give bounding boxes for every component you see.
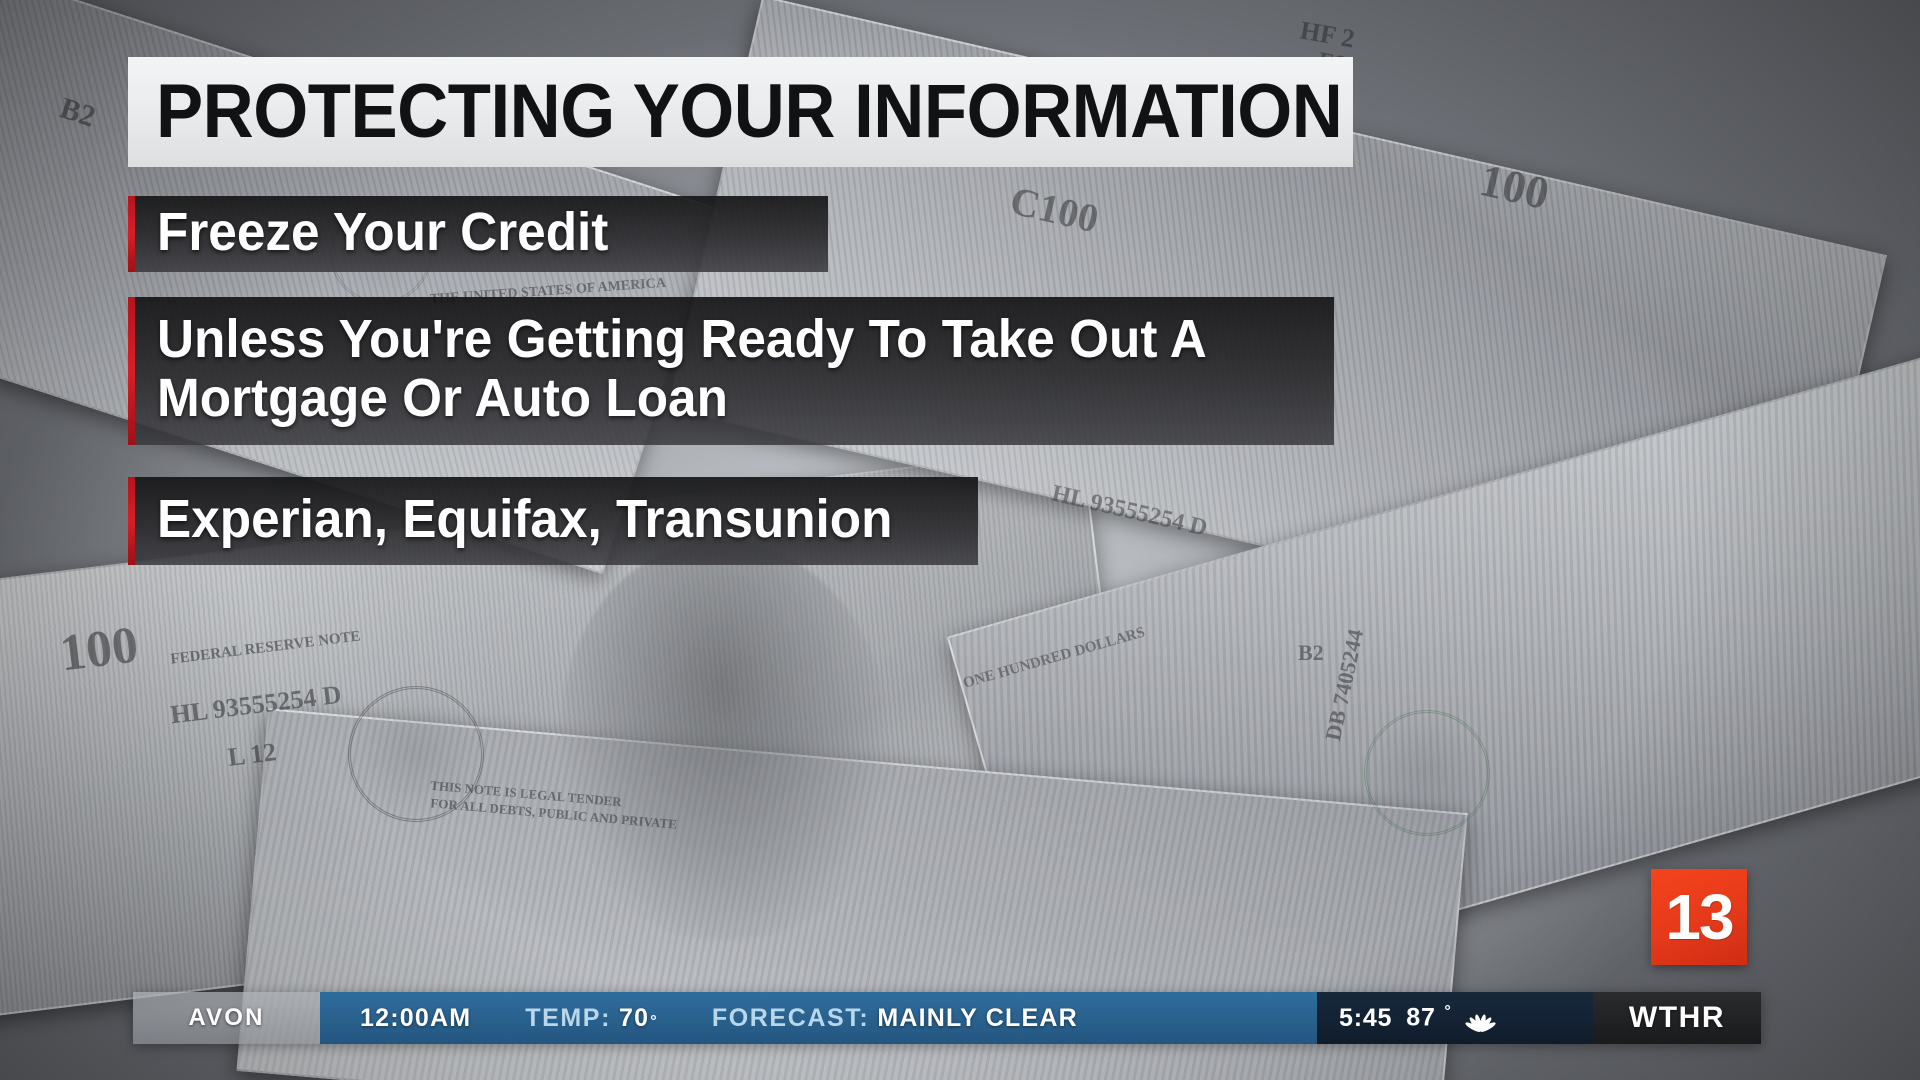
temp-value: 70	[619, 1004, 649, 1033]
ticker-time: 12:00AM	[360, 1004, 471, 1033]
accent-bar-icon	[128, 297, 135, 445]
broadcast-screen: HL 93555254 DL 12HL 93555254 DDB 7405244…	[0, 0, 1920, 1080]
bullet-panel: Freeze Your Credit	[135, 196, 828, 272]
location-label: AVON	[188, 1004, 264, 1032]
ticker-temp: TEMP: 70 °	[525, 1004, 658, 1033]
headline-bar: PROTECTING YOUR INFORMATION	[128, 57, 1353, 167]
bullet-line: Unless You're Getting Ready To Take Out …	[157, 310, 1250, 369]
ticker-callsign: WTHR	[1593, 992, 1761, 1044]
weather-ticker: AVON 12:00AM TEMP: 70 ° FORECAST: MAINLY…	[133, 992, 1761, 1044]
ticker-weather: 12:00AM TEMP: 70 ° FORECAST: MAINLY CLEA…	[320, 992, 1317, 1044]
bullet-line: Freeze Your Credit	[157, 203, 770, 262]
accent-bar-icon	[128, 196, 135, 272]
outside-temp-value: 87	[1406, 1004, 1435, 1032]
forecast-label: FORECAST:	[712, 1004, 869, 1033]
station-logo-13: 13	[1651, 869, 1747, 965]
page-title: PROTECTING YOUR INFORMATION	[156, 74, 1342, 150]
bullet-panel: Experian, Equifax, Transunion	[135, 477, 978, 565]
forecast-value: MAINLY CLEAR	[877, 1004, 1078, 1033]
bullet-line: Mortgage Or Auto Loan	[157, 369, 1250, 428]
ticker-location: AVON	[133, 992, 320, 1044]
bullet-panel: Unless You're Getting Ready To Take Out …	[135, 297, 1334, 445]
nbc-peacock-icon	[1466, 1005, 1494, 1031]
bullet-freeze-credit: Freeze Your Credit	[128, 196, 828, 272]
bullet-line: Experian, Equifax, Transunion	[157, 490, 912, 549]
bullet-unless-mortgage: Unless You're Getting Ready To Take Out …	[128, 297, 1334, 445]
ticker-forecast: FORECAST: MAINLY CLEAR	[712, 1004, 1078, 1033]
accent-bar-icon	[128, 477, 135, 565]
ticker-clock-temp: 5:45 87 °	[1317, 992, 1593, 1044]
clock-value: 5:45	[1339, 1004, 1392, 1033]
temp-label: TEMP:	[525, 1004, 611, 1033]
callsign-label: WTHR	[1629, 1001, 1725, 1035]
outside-temp-unit: °	[1444, 1003, 1451, 1020]
channel-number: 13	[1665, 885, 1732, 949]
temp-unit: °	[650, 1013, 658, 1031]
outside-temp: 87 °	[1406, 1003, 1451, 1032]
bullet-credit-bureaus: Experian, Equifax, Transunion	[128, 477, 978, 565]
